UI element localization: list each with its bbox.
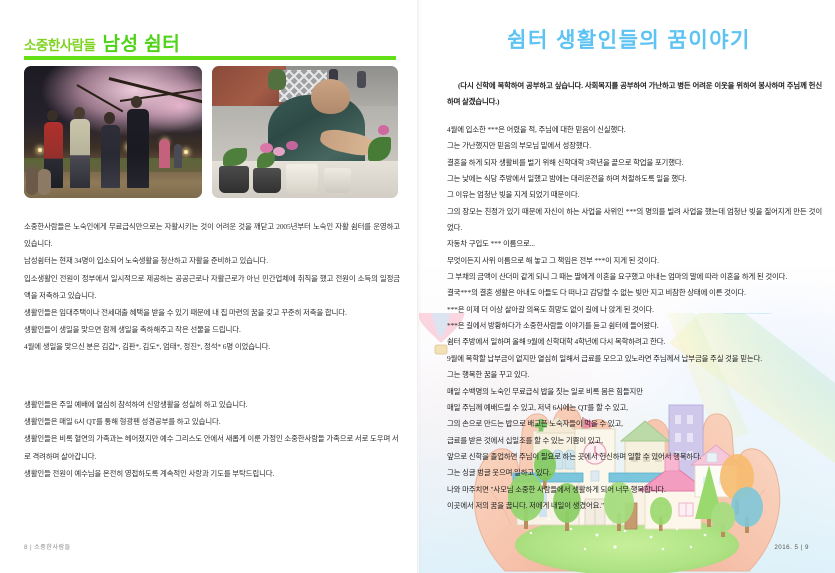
line: ***은 길에서 방황하다가 소중한사람들 이야기를 듣고 쉼터에 들어왔다.	[447, 318, 822, 334]
header-kicker: 소중한사람들	[24, 34, 96, 54]
right-page-intro: (다시 신학에 복학하여 공부하고 싶습니다. 사회복지를 공부하여 가난하고 …	[447, 78, 822, 110]
sparkles	[530, 518, 707, 551]
photo2-pot	[219, 166, 249, 192]
line: ***은 이제 더 이상 살아갈 의욕도 희망도 없이 길에 나 앉게 된 것이…	[447, 302, 822, 318]
right-page: 쉼터 생활인들의 꿈이야기 (다시 신학에 복학하여 공부하고 싶습니다. 사회…	[419, 0, 835, 573]
line: 나와 마주치면 "사모님 소중한 사람들에서 생활하게 되어 너무 행복합니다.	[447, 482, 822, 498]
line: 결혼을 하게 되자 생활비를 벌기 위해 신학대학 3학년을 끝으로 학업을 포…	[447, 155, 822, 171]
line: 그 부채의 금액이 산더미 같게 되니 그 때는 딸에게 이혼을 요구했고 아내…	[447, 269, 822, 285]
photo2-flower	[378, 125, 389, 134]
photo2-pot	[286, 164, 318, 193]
line: 매일 주님께 예배드릴 수 있고, 저녁 6시에는 QT를 할 수 있고,	[447, 400, 822, 416]
photo2-pot	[253, 168, 281, 193]
photo1-person	[127, 109, 148, 188]
line: 자동차 구입도 *** 이름으로...	[447, 236, 822, 252]
photo2-pot	[324, 168, 352, 193]
paragraph: 남성쉼터는 현재 34명이 입소되어 노숙생활을 청산하고 자활을 준비하고 있…	[24, 252, 400, 269]
photo-row	[24, 66, 398, 198]
line: 이곳에서 저의 꿈을 꿉니다. 저에게 내일이 생겼어요."	[447, 498, 822, 514]
photo2-distant-person	[357, 71, 366, 88]
night-cherry-blossom-outing-photo	[24, 66, 202, 198]
paragraph: 생활인들이 생일을 맞으면 함께 생일을 축하해주고 작은 선물을 드립니다.	[24, 321, 400, 338]
line: 그는 행복한 꿈을 꾸고 있다.	[447, 367, 822, 383]
header-title: 남성 쉼터	[103, 29, 181, 56]
photo1-person-head	[47, 110, 58, 122]
line: 앞으로 신학을 졸업하면 주님이 필요로 하는 곳에서 헌신하며 일할 수 있어…	[447, 449, 822, 465]
photo1-person	[70, 119, 90, 188]
header-rule	[24, 56, 396, 60]
line: 4월에 입소한 ***은 어렸을 적, 주님에 대한 믿음이 신실했다.	[447, 122, 822, 138]
line: 그는 가난했지만 믿음의 부모님 밑에서 성장했다.	[447, 138, 822, 154]
line: 9월에 복학할 납부금이 없지만 열심히 일해서 급료를 모으고 있노라면 주님…	[447, 351, 822, 367]
line: 무엇이든지 사위 이름으로 해 놓고 그 책임은 전부 ***이 지게 된 것이…	[447, 253, 822, 269]
magazine-spread: 소중한사람들 남성 쉼터	[0, 0, 835, 573]
line: 그 이유는 엄청난 빚을 지게 되었기 때문이다.	[447, 187, 822, 203]
line: 그는 낮에는 식당 주방에서 일했고 밤에는 대리운전을 하며 처절하도록 일을…	[447, 171, 822, 187]
paragraph: 생활인들은 비록 혈연의 가족과는 헤어졌지만 예수 그리스도 안에서 새롭게 …	[24, 430, 400, 464]
photo1-person	[101, 125, 121, 188]
line: 결국***의 결혼 생활은 아내도 아들도 다 떠나고 감당할 수 없는 빚만 …	[447, 285, 822, 301]
photo1-person-distant	[159, 139, 170, 168]
right-page-footer: 2016. 5 | 9	[774, 544, 809, 551]
line: 그의 장모는 친정가 있기 때문에 자신이 하는 사업을 사위인 ***의 명의…	[447, 204, 822, 237]
left-body-block-1: 소중한사람들은 노숙인에게 무료급식만으로는 자활시키는 것이 어려운 것을 깨…	[24, 218, 400, 356]
line: 매일 수백명의 노숙인 무료급식 밥을 짓는 일로 비록 몸은 힘들지만	[447, 384, 822, 400]
right-page-body: 4월에 입소한 ***은 어렸을 적, 주님에 대한 믿음이 신실했다. 그는 …	[447, 122, 822, 514]
left-page-footer: 8 | 소중한사람들	[24, 542, 71, 551]
right-page-title: 쉼터 생활인들의 꿈이야기	[449, 24, 809, 54]
photo1-person-head	[104, 112, 115, 124]
paragraph: 소중한사람들은 노숙인에게 무료급식만으로는 자활시키는 것이 어려운 것을 깨…	[24, 218, 400, 252]
line: 급료를 받은 것에서 십일조를 할 수 있는 기쁨이 있고,	[447, 433, 822, 449]
left-page-header: 소중한사람들 남성 쉼터	[24, 29, 394, 56]
photo1-person-distant	[174, 144, 183, 168]
line: 그는 싱글 벙글 웃으며 일하고 있다.	[447, 465, 822, 481]
grass-mound	[515, 515, 739, 573]
paragraph: 4월에 생일을 맞으신 분은 김갑*, 김판*, 김도*, 엄태*, 정진*, …	[24, 338, 400, 355]
paragraph: 생활인들은 임대주택이나 전세대출 혜택을 받을 수 있기 때문에 내 집 마련…	[24, 304, 400, 321]
line: 쉼터 주방에서 일하며 올해 9월에 신학대학 4학년에 다시 복학하려고 한다…	[447, 334, 822, 350]
photo2-man-head	[311, 79, 350, 113]
left-page: 소중한사람들 남성 쉼터	[0, 0, 419, 573]
photo2-bush	[268, 69, 287, 90]
paragraph: 생활인들은 주일 예배에 열심히 참석하여 신앙생활을 성실히 하고 있습니다.	[24, 396, 400, 413]
line: 그의 손으로 만드는 밥으로 배고픈 노숙자들이 먹을 수 있고,	[447, 416, 822, 432]
left-body-block-2: 생활인들은 주일 예배에 열심히 참석하여 신앙생활을 성실히 하고 있습니다.…	[24, 396, 400, 482]
man-planting-flowers-photo	[212, 66, 398, 198]
paragraph: 입소생활인 전원이 정부에서 일시적으로 제공하는 공공근로나 자활근로가 아닌…	[24, 270, 400, 304]
paragraph: 생활인들은 매일 6시 QT를 통해 형광펜 성경공부를 하고 있습니다.	[24, 413, 400, 430]
photo1-seated-person	[26, 166, 38, 195]
photo2-flower	[273, 147, 284, 156]
photo1-person-head	[74, 107, 85, 119]
photo1-seated-person	[38, 169, 50, 195]
paragraph: 생활인들 전원이 예수님을 온전히 영접하도록 계속적인 사랑과 기도를 부탁드…	[24, 465, 400, 482]
